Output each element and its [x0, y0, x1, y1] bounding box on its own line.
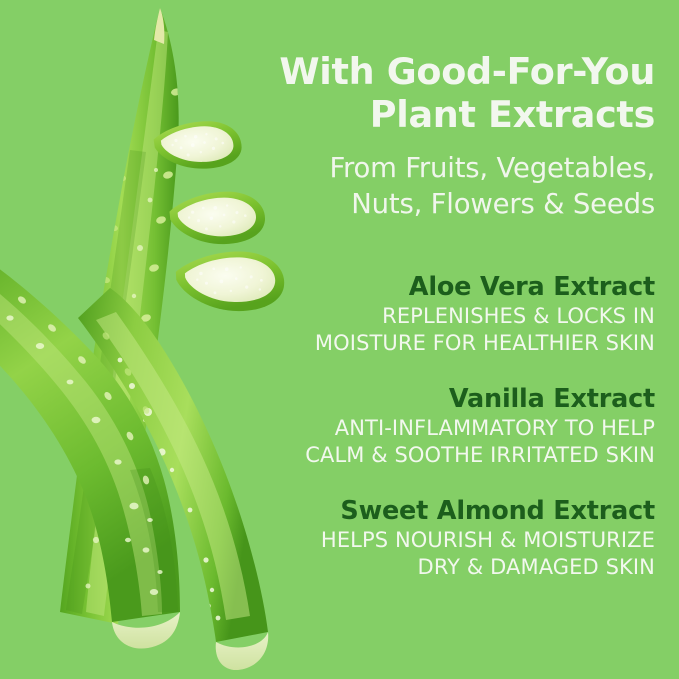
- subheadline: From Fruits, Vegetables, Nuts, Flowers &…: [250, 150, 655, 222]
- extract-description: ANTI-INFLAMMATORY TO HELP CALM & SOOTHE …: [250, 415, 655, 469]
- extract-description-line-1: ANTI-INFLAMMATORY TO HELP: [250, 415, 655, 442]
- text-column: With Good-For-You Plant Extracts From Fr…: [250, 0, 655, 679]
- extract-description-line-2: MOISTURE FOR HEALTHIER SKIN: [250, 330, 655, 357]
- extract-description-line-2: DRY & DAMAGED SKIN: [250, 554, 655, 581]
- extract-item-vanilla: Vanilla Extract ANTI-INFLAMMATORY TO HEL…: [250, 384, 655, 469]
- extract-description-line-1: HELPS NOURISH & MOISTURIZE: [250, 527, 655, 554]
- aloe-leaf-right: [70, 288, 268, 670]
- extract-item-sweet-almond: Sweet Almond Extract HELPS NOURISH & MOI…: [250, 496, 655, 581]
- headline-line-2: Plant Extracts: [250, 93, 655, 136]
- extract-title: Vanilla Extract: [250, 384, 655, 415]
- subheadline-line-1: From Fruits, Vegetables,: [250, 150, 655, 186]
- extract-description: HELPS NOURISH & MOISTURIZE DRY & DAMAGED…: [250, 527, 655, 581]
- extract-title: Sweet Almond Extract: [250, 496, 655, 527]
- aloe-leaf-tall: [60, 8, 182, 624]
- extract-description-line-1: REPLENISHES & LOCKS IN: [250, 303, 655, 330]
- extract-title: Aloe Vera Extract: [250, 272, 655, 303]
- extract-list: Aloe Vera Extract REPLENISHES & LOCKS IN…: [250, 272, 655, 608]
- extract-item-aloe-vera: Aloe Vera Extract REPLENISHES & LOCKS IN…: [250, 272, 655, 357]
- extract-description-line-2: CALM & SOOTHE IRRITATED SKIN: [250, 442, 655, 469]
- aloe-leaf-left: [0, 262, 180, 648]
- promo-poster: With Good-For-You Plant Extracts From Fr…: [0, 0, 679, 679]
- aloe-slice-top: [152, 116, 244, 175]
- extract-description: REPLENISHES & LOCKS IN MOISTURE FOR HEAL…: [250, 303, 655, 357]
- subheadline-line-2: Nuts, Flowers & Seeds: [250, 186, 655, 222]
- headline-line-1: With Good-For-You: [250, 50, 655, 93]
- headline: With Good-For-You Plant Extracts: [250, 50, 655, 136]
